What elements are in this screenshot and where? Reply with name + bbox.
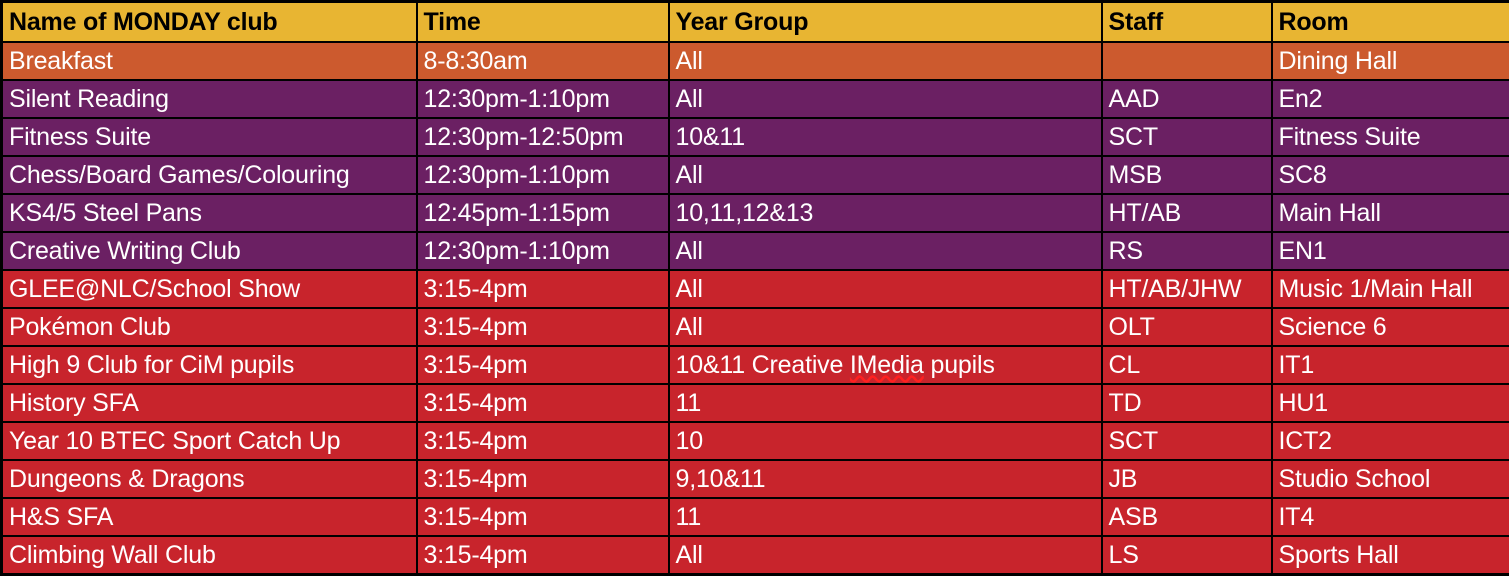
header-row: Name of MONDAY club Time Year Group Staf… — [2, 2, 1509, 43]
column-header-room: Room — [1272, 2, 1509, 43]
cell-time: 3:15-4pm — [417, 270, 669, 308]
clubs-timetable-container: Name of MONDAY club Time Year Group Staf… — [0, 0, 1509, 552]
cell-staff: AAD — [1102, 80, 1272, 118]
cell-staff: LS — [1102, 536, 1272, 575]
cell-name: H&S SFA — [2, 498, 417, 536]
table-header: Name of MONDAY club Time Year Group Staf… — [2, 2, 1509, 43]
cell-year: All — [669, 536, 1102, 575]
cell-staff: MSB — [1102, 156, 1272, 194]
cell-name: Climbing Wall Club — [2, 536, 417, 575]
cell-staff: RS — [1102, 232, 1272, 270]
table-row: History SFA3:15-4pm11TDHU1 — [2, 384, 1509, 422]
cell-staff: HT/AB — [1102, 194, 1272, 232]
cell-name: History SFA — [2, 384, 417, 422]
table-row: GLEE@NLC/School Show3:15-4pmAllHT/AB/JHW… — [2, 270, 1509, 308]
cell-staff — [1102, 42, 1272, 80]
cell-name: Creative Writing Club — [2, 232, 417, 270]
cell-name: KS4/5 Steel Pans — [2, 194, 417, 232]
cell-time: 12:30pm-1:10pm — [417, 80, 669, 118]
column-header-time: Time — [417, 2, 669, 43]
column-header-staff: Staff — [1102, 2, 1272, 43]
cell-time: 3:15-4pm — [417, 536, 669, 575]
cell-year: 11 — [669, 384, 1102, 422]
cell-name: Breakfast — [2, 42, 417, 80]
monday-clubs-table: Name of MONDAY club Time Year Group Staf… — [0, 0, 1509, 576]
cell-name: GLEE@NLC/School Show — [2, 270, 417, 308]
cell-room: Science 6 — [1272, 308, 1509, 346]
cell-room: EN1 — [1272, 232, 1509, 270]
cell-room: Sports Hall — [1272, 536, 1509, 575]
cell-year: 10&11 Creative IMedia pupils — [669, 346, 1102, 384]
table-row: Silent Reading12:30pm-1:10pmAllAADEn2 — [2, 80, 1509, 118]
cell-staff: SCT — [1102, 118, 1272, 156]
cell-staff: SCT — [1102, 422, 1272, 460]
cell-name: Chess/Board Games/Colouring — [2, 156, 417, 194]
cell-time: 12:30pm-1:10pm — [417, 232, 669, 270]
cell-time: 3:15-4pm — [417, 498, 669, 536]
cell-name: Silent Reading — [2, 80, 417, 118]
table-row: Creative Writing Club12:30pm-1:10pmAllRS… — [2, 232, 1509, 270]
cell-room: HU1 — [1272, 384, 1509, 422]
table-row: Pokémon Club3:15-4pmAllOLTScience 6 — [2, 308, 1509, 346]
cell-year: 10,11,12&13 — [669, 194, 1102, 232]
cell-name: Pokémon Club — [2, 308, 417, 346]
cell-time: 12:30pm-12:50pm — [417, 118, 669, 156]
cell-staff: ASB — [1102, 498, 1272, 536]
table-row: Year 10 BTEC Sport Catch Up3:15-4pm10SCT… — [2, 422, 1509, 460]
cell-room: SC8 — [1272, 156, 1509, 194]
table-row: KS4/5 Steel Pans12:45pm-1:15pm10,11,12&1… — [2, 194, 1509, 232]
cell-year: All — [669, 80, 1102, 118]
table-row: Chess/Board Games/Colouring12:30pm-1:10p… — [2, 156, 1509, 194]
cell-year: All — [669, 308, 1102, 346]
table-row: Climbing Wall Club3:15-4pmAllLSSports Ha… — [2, 536, 1509, 575]
cell-time: 12:30pm-1:10pm — [417, 156, 669, 194]
cell-room: IT4 — [1272, 498, 1509, 536]
cell-room: ICT2 — [1272, 422, 1509, 460]
column-header-year-group: Year Group — [669, 2, 1102, 43]
cell-room: IT1 — [1272, 346, 1509, 384]
table-row: H&S SFA3:15-4pm11ASBIT4 — [2, 498, 1509, 536]
table-body: Breakfast8-8:30amAllDining HallSilent Re… — [2, 42, 1509, 575]
cell-staff: JB — [1102, 460, 1272, 498]
cell-time: 3:15-4pm — [417, 308, 669, 346]
cell-room: Main Hall — [1272, 194, 1509, 232]
column-header-name: Name of MONDAY club — [2, 2, 417, 43]
cell-time: 3:15-4pm — [417, 422, 669, 460]
cell-year: 10 — [669, 422, 1102, 460]
table-row: Fitness Suite12:30pm-12:50pm10&11SCTFitn… — [2, 118, 1509, 156]
cell-staff: OLT — [1102, 308, 1272, 346]
cell-staff: HT/AB/JHW — [1102, 270, 1272, 308]
cell-name: High 9 Club for CiM pupils — [2, 346, 417, 384]
cell-year: 9,10&11 — [669, 460, 1102, 498]
cell-time: 3:15-4pm — [417, 460, 669, 498]
cell-staff: CL — [1102, 346, 1272, 384]
spellcheck-underlined-word: IMedia — [850, 351, 924, 379]
cell-room: Studio School — [1272, 460, 1509, 498]
cell-name: Fitness Suite — [2, 118, 417, 156]
cell-time: 3:15-4pm — [417, 346, 669, 384]
table-row: Dungeons & Dragons3:15-4pm9,10&11JBStudi… — [2, 460, 1509, 498]
cell-time: 12:45pm-1:15pm — [417, 194, 669, 232]
cell-room: Dining Hall — [1272, 42, 1509, 80]
table-row: Breakfast8-8:30amAllDining Hall — [2, 42, 1509, 80]
cell-time: 3:15-4pm — [417, 384, 669, 422]
cell-room: Music 1/Main Hall — [1272, 270, 1509, 308]
cell-room: En2 — [1272, 80, 1509, 118]
cell-year: All — [669, 42, 1102, 80]
cell-year: 11 — [669, 498, 1102, 536]
cell-name: Dungeons & Dragons — [2, 460, 417, 498]
cell-year: All — [669, 156, 1102, 194]
cell-year: All — [669, 232, 1102, 270]
table-row: High 9 Club for CiM pupils3:15-4pm10&11 … — [2, 346, 1509, 384]
cell-year: 10&11 — [669, 118, 1102, 156]
cell-staff: TD — [1102, 384, 1272, 422]
cell-time: 8-8:30am — [417, 42, 669, 80]
cell-year: All — [669, 270, 1102, 308]
cell-name: Year 10 BTEC Sport Catch Up — [2, 422, 417, 460]
cell-room: Fitness Suite — [1272, 118, 1509, 156]
